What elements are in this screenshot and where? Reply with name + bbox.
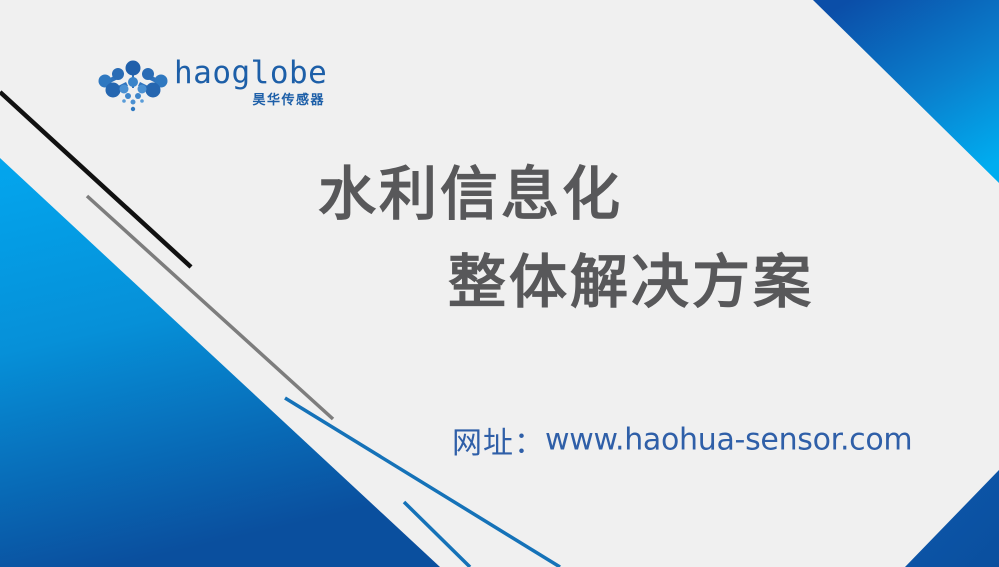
website-line: 网址：www.haohua-sensor.com xyxy=(452,418,912,462)
bottom-right-blue-triangle xyxy=(905,470,999,567)
company-logo[interactable]: haoglobe 昊华传感器 xyxy=(96,56,326,118)
logo-text-block: haoglobe 昊华传感器 xyxy=(174,56,326,116)
right-blue-gradient-triangle xyxy=(813,0,999,183)
title-line-2: 整体解决方案 xyxy=(0,246,999,318)
haoglobe-network-dots-logo-icon xyxy=(96,58,170,114)
logo-subtitle: 昊华传感器 xyxy=(174,92,326,110)
slide-title: 水利信息化 整体解决方案 xyxy=(0,158,999,318)
website-url[interactable]: www.haohua-sensor.com xyxy=(545,423,912,458)
presentation-title-slide: haoglobe 昊华传感器 水利信息化 整体解决方案 网址：www.haohu… xyxy=(0,0,999,567)
title-line-1: 水利信息化 xyxy=(0,158,999,230)
logo-wordmark: haoglobe xyxy=(174,56,326,90)
website-label: 网址： xyxy=(452,426,545,461)
